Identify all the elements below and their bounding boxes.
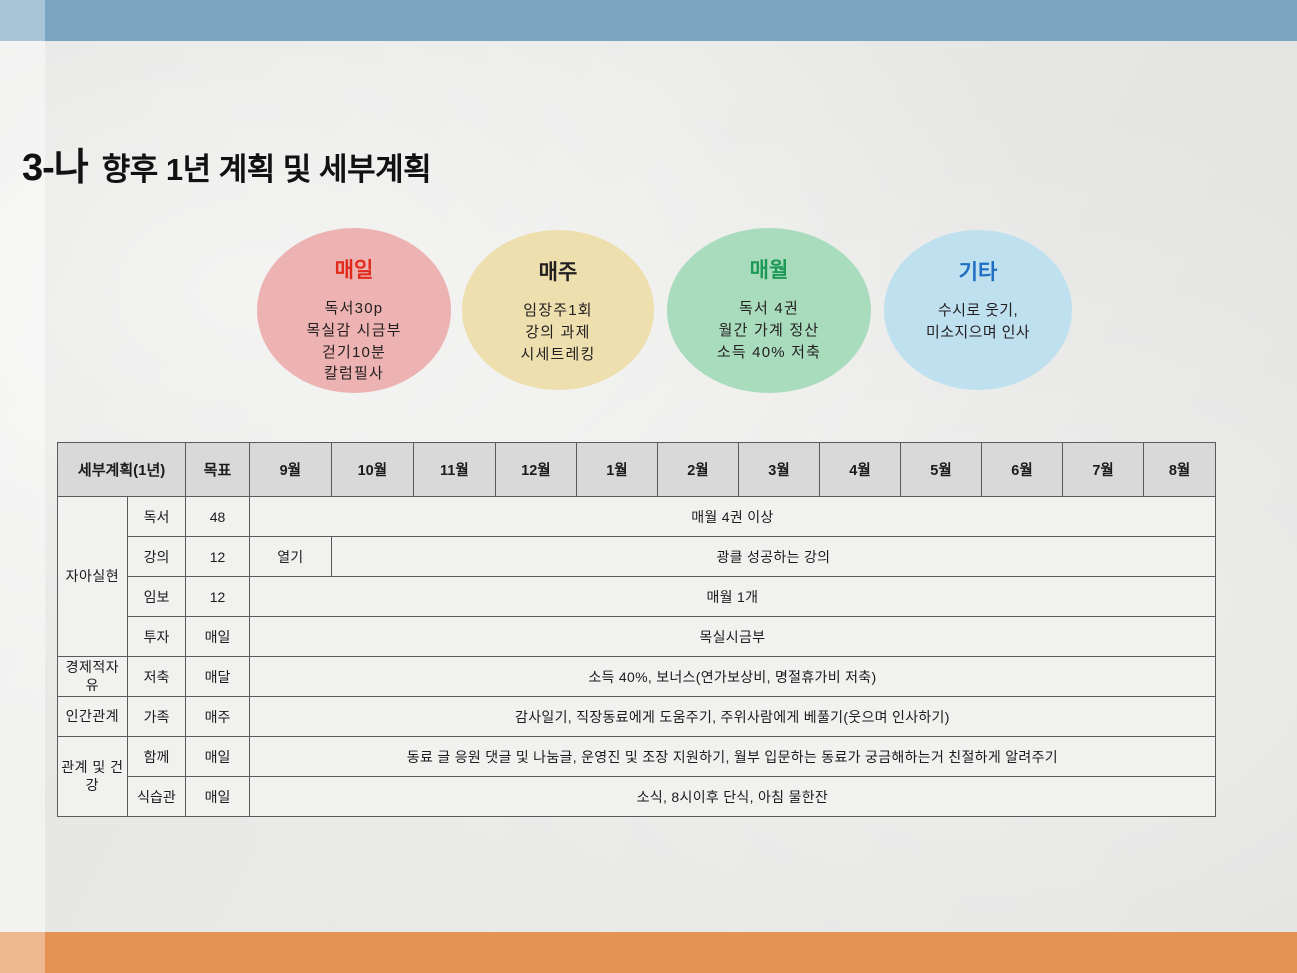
table-cell-item: 함께: [127, 737, 185, 777]
table-header-goal: 목표: [186, 443, 250, 497]
table-header-month-8: 4월: [819, 443, 900, 497]
table-header-month-3: 11월: [413, 443, 495, 497]
table-header-month-12: 8월: [1144, 443, 1216, 497]
table-cell-schedule: 매월 4권 이상: [249, 497, 1215, 537]
table-cell-item: 임보: [127, 577, 185, 617]
table-header-month-1: 9월: [249, 443, 331, 497]
table-header-month-2: 10월: [331, 443, 413, 497]
frequency-circle-daily: 매일 독서30p 목실감 시금부 걷기10분 칼럼필사: [257, 228, 451, 393]
table-body: 자아실현독서48매월 4권 이상강의12열기광클 성공하는 강의임보12매월 1…: [58, 497, 1216, 817]
table-header-month-6: 2월: [657, 443, 738, 497]
page-title: 3-나 향후 1년 계획 및 세부계획: [22, 136, 431, 191]
slide-canvas: 3-나 향후 1년 계획 및 세부계획 매일 독서30p 목실감 시금부 걷기1…: [0, 0, 1297, 973]
table-cell-item: 독서: [127, 497, 185, 537]
table-row: 자아실현독서48매월 4권 이상: [58, 497, 1216, 537]
circle-body-daily: 독서30p 목실감 시금부 걷기10분 칼럼필사: [306, 298, 401, 385]
table-row: 인간관계가족매주감사일기, 직장동료에게 도움주기, 주위사람에게 베풀기(웃으…: [58, 697, 1216, 737]
table-row: 관계 및 건강함께매일동료 글 응원 댓글 및 나눔글, 운영진 및 조장 지원…: [58, 737, 1216, 777]
table-row: 임보12매월 1개: [58, 577, 1216, 617]
table-header: 세부계획(1년)목표9월10월11월12월1월2월3월4월5월6월7월8월: [58, 443, 1216, 497]
table-cell-goal: 매주: [186, 697, 250, 737]
table-header-month-11: 7월: [1063, 443, 1144, 497]
table-cell-goal: 매일: [186, 777, 250, 817]
table-header-plan: 세부계획(1년): [58, 443, 186, 497]
table-cell-item: 가족: [127, 697, 185, 737]
bottom-color-band-left-accent: [0, 932, 45, 973]
table-header-month-10: 6월: [982, 443, 1063, 497]
title-number: 3-나: [22, 136, 88, 191]
top-color-band: [0, 0, 1297, 41]
frequency-circle-weekly: 매주 임장주1회 강의 과제 시세트레킹: [462, 230, 654, 390]
table-cell-item: 식습관: [127, 777, 185, 817]
table-cell-item: 강의: [127, 537, 185, 577]
top-color-band-left-accent: [0, 0, 45, 41]
table-cell-schedule: 동료 글 응원 댓글 및 나눔글, 운영진 및 조장 지원하기, 월부 입문하는…: [249, 737, 1215, 777]
table-cell-item: 투자: [127, 617, 185, 657]
table-row: 식습관매일소식, 8시이후 단식, 아침 물한잔: [58, 777, 1216, 817]
table-cell-goal: 매달: [186, 657, 250, 697]
table-row: 투자매일목실시금부: [58, 617, 1216, 657]
table-cell-schedule: 매월 1개: [249, 577, 1215, 617]
table-cell-goal: 매일: [186, 617, 250, 657]
table-group-label: 경제적자유: [58, 657, 128, 697]
circle-body-other: 수시로 웃기, 미소지으며 인사: [926, 300, 1030, 344]
circle-title-weekly: 매주: [539, 256, 578, 286]
frequency-circle-monthly: 매월 독서 4권 월간 가계 정산 소득 40% 저축: [667, 228, 871, 393]
table-header-month-9: 5월: [900, 443, 981, 497]
title-text: 향후 1년 계획 및 세부계획: [102, 144, 431, 189]
table-cell-goal: 매일: [186, 737, 250, 777]
table-header-month-4: 12월: [495, 443, 576, 497]
circle-body-monthly: 독서 4권 월간 가계 정산 소득 40% 저축: [717, 298, 821, 363]
table-row: 강의12열기광클 성공하는 강의: [58, 537, 1216, 577]
table-cell-schedule: 감사일기, 직장동료에게 도움주기, 주위사람에게 베풀기(웃으며 인사하기): [249, 697, 1215, 737]
bottom-color-band: [0, 932, 1297, 973]
circle-body-weekly: 임장주1회 강의 과제 시세트레킹: [520, 300, 595, 365]
table-header-month-7: 3월: [738, 443, 819, 497]
table-cell-goal: 12: [186, 577, 250, 617]
table-cell-schedule: 열기: [249, 537, 331, 577]
detail-plan-table: 세부계획(1년)목표9월10월11월12월1월2월3월4월5월6월7월8월 자아…: [57, 442, 1216, 817]
table-group-label: 관계 및 건강: [58, 737, 128, 817]
table-cell-goal: 12: [186, 537, 250, 577]
table-cell-item: 저축: [127, 657, 185, 697]
table-header-month-5: 1월: [576, 443, 657, 497]
table-row: 경제적자유저축매달소득 40%, 보너스(연가보상비, 명절휴가비 저축): [58, 657, 1216, 697]
circle-title-monthly: 매월: [750, 254, 789, 284]
table-cell-schedule: 목실시금부: [249, 617, 1215, 657]
table-cell-goal: 48: [186, 497, 250, 537]
table-group-label: 인간관계: [58, 697, 128, 737]
table-group-label: 자아실현: [58, 497, 128, 657]
table-cell-schedule: 광클 성공하는 강의: [331, 537, 1215, 577]
table-cell-schedule: 소식, 8시이후 단식, 아침 물한잔: [249, 777, 1215, 817]
frequency-circle-other: 기타 수시로 웃기, 미소지으며 인사: [884, 230, 1072, 390]
table-cell-schedule: 소득 40%, 보너스(연가보상비, 명절휴가비 저축): [249, 657, 1215, 697]
table-header-row: 세부계획(1년)목표9월10월11월12월1월2월3월4월5월6월7월8월: [58, 443, 1216, 497]
circle-title-daily: 매일: [335, 254, 374, 284]
circle-title-other: 기타: [959, 256, 998, 286]
